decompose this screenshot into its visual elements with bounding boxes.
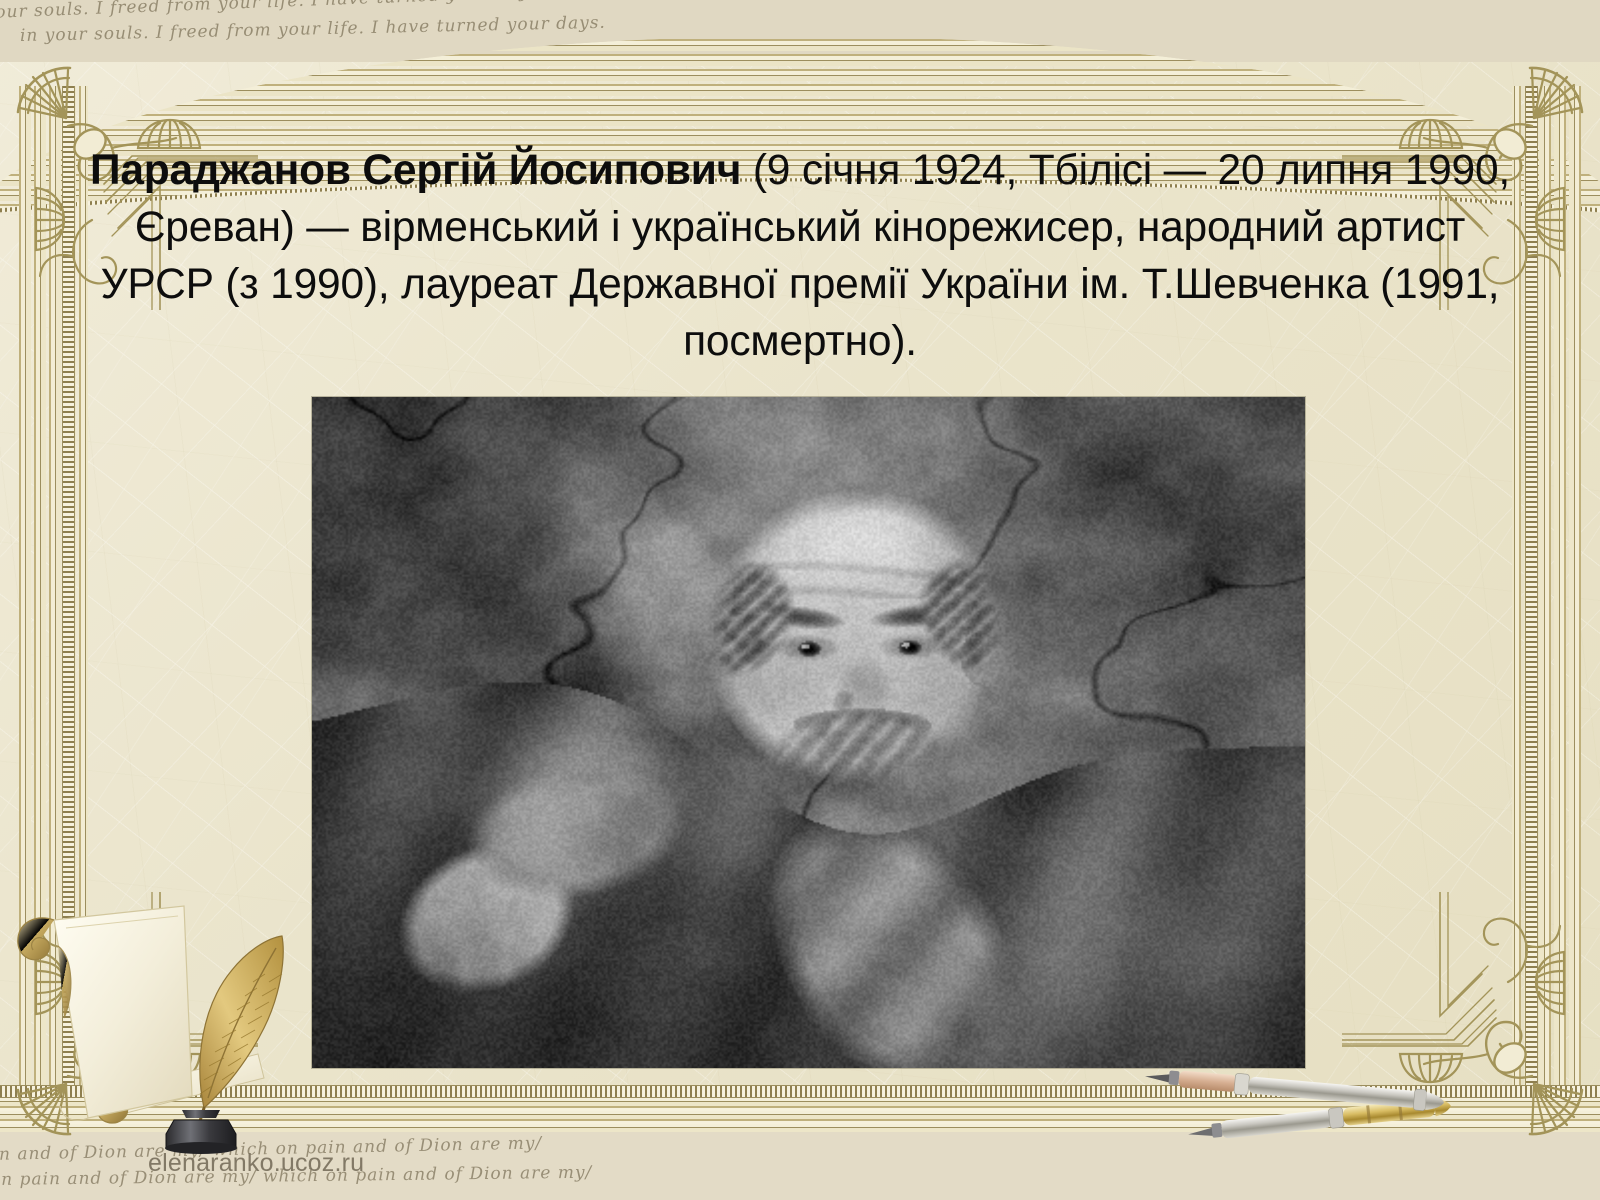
- scroll-and-quill-decoration: [0, 866, 326, 1156]
- golden-quill-icon: [196, 936, 283, 1134]
- crossed-pens-decoration: [1114, 1036, 1534, 1156]
- handwriting-band-top: in your souls. I freed from your life. I…: [0, 0, 1600, 62]
- silver-pen-icon: [1144, 1065, 1445, 1112]
- site-watermark: elenaranko.ucoz.ru: [148, 1149, 364, 1178]
- portrait-photo: [312, 397, 1305, 1068]
- slide-canvas: in your souls. I freed from your life. I…: [0, 0, 1600, 1200]
- portrait-photo-canvas: [312, 397, 1305, 1068]
- slide-body-text: Параджанов Сергій Йосипович (9 січня 192…: [86, 142, 1514, 370]
- person-name: Параджанов Сергій Йосипович: [90, 147, 741, 194]
- inkwell-icon: [165, 1110, 237, 1154]
- scroll-main: [18, 906, 192, 1120]
